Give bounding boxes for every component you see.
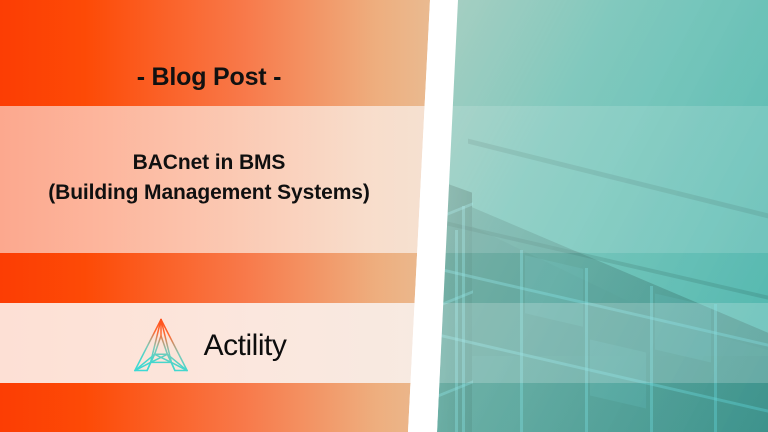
page-title-line-1: BACnet in BMS — [133, 151, 286, 174]
page-title: BACnet in BMS (Building Management Syste… — [0, 148, 418, 208]
kicker-label: - Blog Post - — [0, 63, 418, 92]
brand-lockup: Actility — [0, 313, 418, 377]
page-title-line-2: (Building Management Systems) — [0, 178, 418, 208]
brand-wordmark: Actility — [204, 331, 287, 361]
blog-post-social-card: - Blog Post - BACnet in BMS (Building Ma… — [0, 0, 768, 432]
left-panel-content: - Blog Post - BACnet in BMS (Building Ma… — [0, 0, 430, 432]
actility-a-logo-icon — [132, 316, 190, 374]
